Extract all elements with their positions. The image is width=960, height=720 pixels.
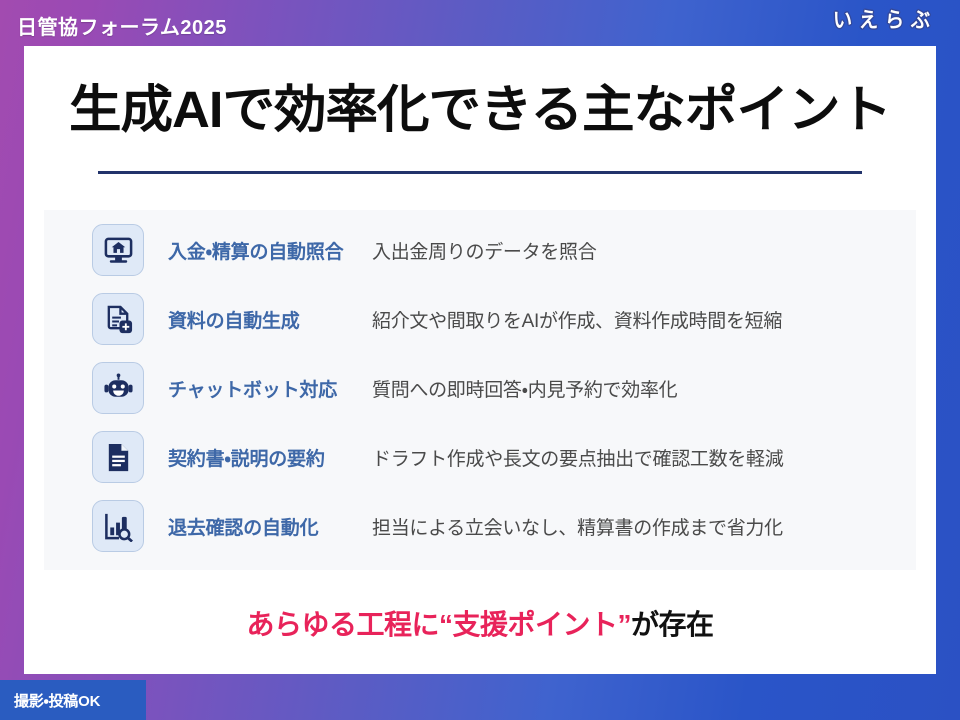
list-item-label: 契約書・説明の要約	[168, 444, 372, 471]
footer-statement: あらゆる工程に“支援ポイント”が存在	[24, 603, 936, 643]
list-item: 契約書・説明の要約 ドラフト作成や長文の要点抽出で確認工数を軽減	[44, 422, 916, 492]
points-panel: 入金・精算の自動照合 入出金周りのデータを照合	[44, 210, 916, 570]
logo-glyph-4: ぶ	[910, 8, 931, 34]
list-item-description: ドラフト作成や長文の要点抽出で確認工数を軽減	[372, 444, 916, 471]
list-item: 入金・精算の自動照合 入出金周りのデータを照合	[44, 215, 916, 285]
status-badge-label: 撮影・投稿OK	[0, 690, 100, 711]
list-item-description: 紹介文や間取りをAIが作成、資料作成時間を短縮	[372, 306, 916, 333]
status-badge: 撮影・投稿OK	[0, 680, 146, 720]
logo-glyph-1: い	[832, 8, 853, 34]
slide-card: 生成AIで効率化できる主なポイント 入金・精算の自動照合 入出金周りのデータを照…	[24, 46, 936, 674]
list-item-label: 入金・精算の自動照合	[168, 237, 372, 264]
header-bar: 日管協フォーラム2025 い え ら ぶ	[0, 0, 960, 46]
title-divider	[98, 171, 862, 174]
slide-root: 日管協フォーラム2025 い え ら ぶ 生成AIで効率化できる主なポイント	[0, 0, 960, 720]
header-title: 日管協フォーラム2025	[17, 11, 227, 40]
list-item-description: 担当による立会いなし、精算書の作成まで省力化	[372, 513, 916, 540]
page-title: 生成AIで効率化できる主なポイント	[10, 68, 949, 142]
list-item: チャットボット対応 質問への即時回答・内見予約で効率化	[44, 353, 916, 423]
list-item-description: 入出金周りのデータを照合	[372, 237, 916, 264]
chart-search-icon	[92, 500, 144, 552]
robot-icon	[92, 362, 144, 414]
list-item-label: 資料の自動生成	[168, 306, 372, 333]
logo-glyph-3: ら	[884, 8, 905, 34]
list-item: 退去確認の自動化 担当による立会いなし、精算書の作成まで省力化	[44, 491, 916, 561]
list-item-label: チャットボット対応	[168, 375, 372, 402]
document-lines-icon	[92, 431, 144, 483]
ielove-logo: い え ら ぶ	[831, 8, 932, 34]
list-item: 資料の自動生成 紹介文や間取りをAIが作成、資料作成時間を短縮	[44, 284, 916, 354]
list-item-label: 退去確認の自動化	[168, 513, 372, 540]
footer-highlight: あらゆる工程に“支援ポイント”	[246, 609, 631, 640]
footer-tail: が存在	[631, 609, 714, 640]
document-plus-icon	[92, 293, 144, 345]
monitor-house-icon	[92, 224, 144, 276]
logo-glyph-2: え	[858, 8, 879, 34]
list-item-description: 質問への即時回答・内見予約で効率化	[372, 375, 916, 402]
